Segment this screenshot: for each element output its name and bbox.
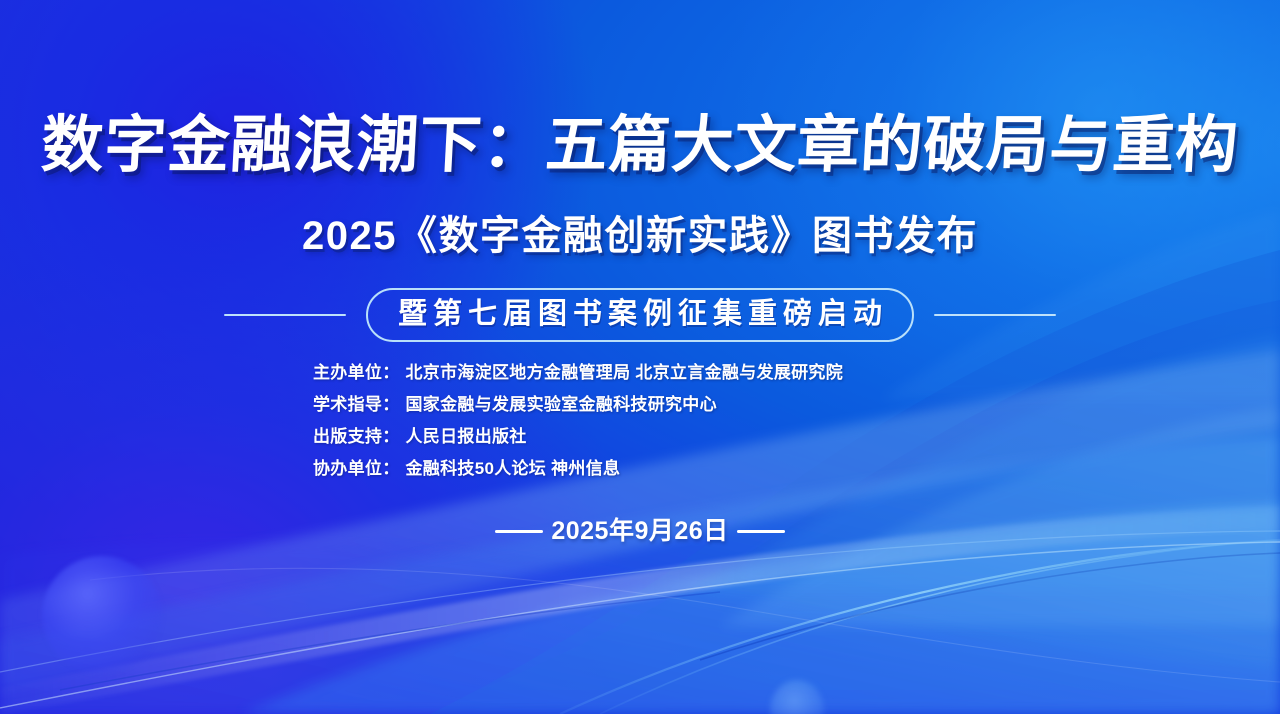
highlight-banner: 暨第七届图书案例征集重磅启动 bbox=[366, 288, 914, 342]
event-date-row: 2025年9月26日 bbox=[0, 516, 1280, 546]
organization-label: 协办单位： bbox=[313, 459, 400, 478]
organization-row: 出版支持：人民日报出版社 bbox=[313, 424, 843, 450]
organization-label: 主办单位： bbox=[313, 363, 400, 382]
banner-rule-left bbox=[224, 314, 346, 316]
page-title: 数字金融浪潮下：五篇大文章的破局与重构 bbox=[0, 108, 1280, 184]
highlight-banner-label: 暨第七届图书案例征集重磅启动 bbox=[392, 297, 888, 331]
organization-row: 学术指导：国家金融与发展实验室金融科技研究中心 bbox=[313, 392, 843, 418]
date-dash-right bbox=[737, 530, 785, 533]
organization-label: 学术指导： bbox=[313, 395, 400, 414]
event-poster: 数字金融浪潮下：五篇大文章的破局与重构 2025《数字金融创新实践》图书发布 暨… bbox=[0, 0, 1280, 714]
organizations-list: 主办单位：北京市海淀区地方金融管理局 北京立言金融与发展研究院 学术指导：国家金… bbox=[313, 360, 843, 488]
page-subtitle: 2025《数字金融创新实践》图书发布 bbox=[0, 212, 1280, 260]
organization-value: 金融科技50人论坛 神州信息 bbox=[406, 459, 621, 478]
date-dash-left bbox=[495, 530, 543, 533]
banner-rule-right bbox=[934, 314, 1056, 316]
organization-value: 人民日报出版社 bbox=[406, 427, 527, 446]
organization-value: 国家金融与发展实验室金融科技研究中心 bbox=[406, 395, 717, 414]
highlight-banner-row: 暨第七届图书案例征集重磅启动 bbox=[0, 288, 1280, 342]
organization-label: 出版支持： bbox=[313, 427, 400, 446]
event-date: 2025年9月26日 bbox=[551, 516, 728, 546]
organization-value: 北京市海淀区地方金融管理局 北京立言金融与发展研究院 bbox=[406, 363, 844, 382]
organization-row: 主办单位：北京市海淀区地方金融管理局 北京立言金融与发展研究院 bbox=[313, 360, 843, 386]
poster-content: 数字金融浪潮下：五篇大文章的破局与重构 2025《数字金融创新实践》图书发布 暨… bbox=[0, 0, 1280, 714]
organization-row: 协办单位：金融科技50人论坛 神州信息 bbox=[313, 456, 843, 482]
